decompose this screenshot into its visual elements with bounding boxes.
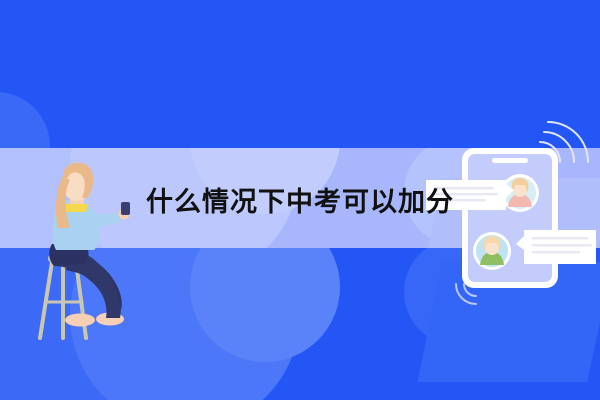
chat-bubble-right: [516, 230, 596, 264]
avatar-bottom: [473, 232, 511, 270]
page-title: 什么情况下中考可以加分: [0, 184, 600, 220]
phone-speaker: [492, 158, 528, 163]
banner-image: 什么情况下中考可以加分: [0, 0, 600, 400]
shoe-front: [65, 314, 95, 327]
